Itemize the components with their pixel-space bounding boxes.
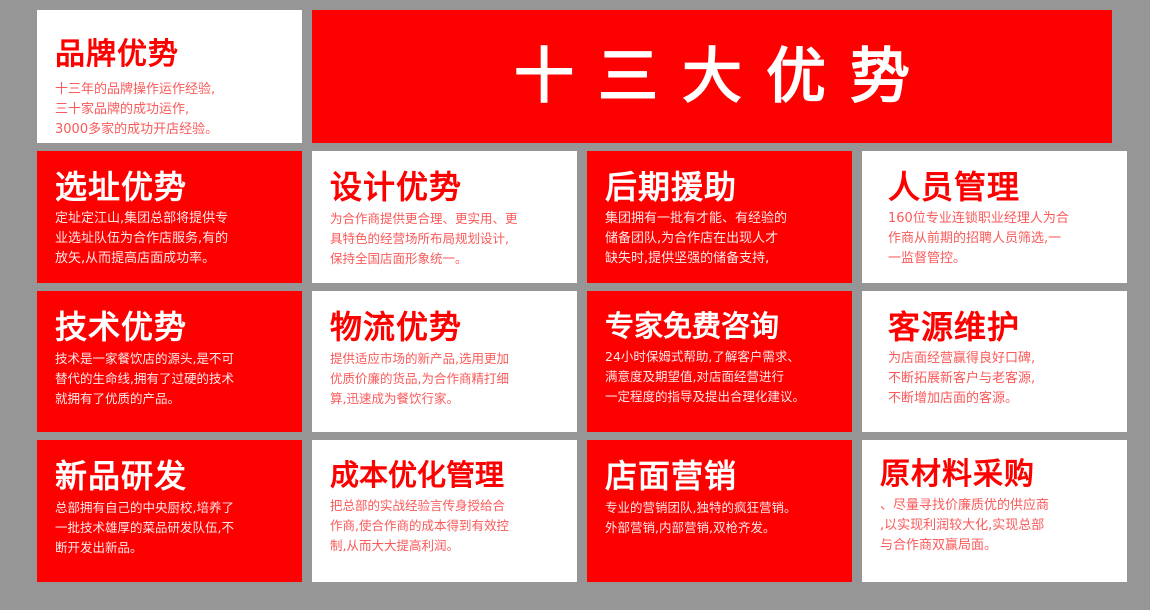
- card-description-line: 专业的营销团队,独特的疯狂营销。: [605, 498, 834, 518]
- card-description-line: 十三年的品牌操作运作经验,: [55, 80, 284, 100]
- card-description-line: 作商,使合作商的成本得到有效控: [330, 516, 559, 536]
- card-description-line: 具特色的经营场所布局规划设计,: [330, 229, 559, 249]
- card-description: 为店面经营赢得良好口碑, 不断拓展新客户与老客源, 不断增加店面的客源。: [888, 349, 1109, 409]
- card-description-line: 提供适应市场的新产品,选用更加: [330, 349, 559, 369]
- card-description-line: 就拥有了优质的产品。: [55, 389, 284, 409]
- card-description-line: 把总部的实战经验言传身授给合: [330, 496, 559, 516]
- card-title: 物流优势: [330, 307, 559, 347]
- card-description: 、尽量寻找价廉质优的供应商 ,以实现利润较大化,实现总部 与合作商双赢局面。: [880, 496, 1109, 556]
- card-title: 后期援助: [605, 167, 834, 207]
- card-new-product-rnd[interactable]: 新品研发 总部拥有自己的中央厨校,培养了 一批技术雄厚的菜品研发队伍,不 断开发…: [37, 440, 302, 582]
- board-row-2: 选址优势 定址定江山,集团总部将提供专 业选址队伍为合作店服务,有的 放矢,从而…: [37, 151, 1112, 283]
- card-title: 品牌优势: [55, 36, 284, 74]
- card-description-line: 为合作商提供更合理、更实用、更: [330, 209, 559, 229]
- card-brand-advantage[interactable]: 品牌优势 十三年的品牌操作运作经验, 三十家品牌的成功运作, 3000多家的成功…: [37, 10, 302, 143]
- card-title: 店面营销: [605, 456, 834, 496]
- card-description-line: 定址定江山,集团总部将提供专: [55, 209, 284, 229]
- card-site-selection-advantage[interactable]: 选址优势 定址定江山,集团总部将提供专 业选址队伍为合作店服务,有的 放矢,从而…: [37, 151, 302, 283]
- card-title: 设计优势: [330, 167, 559, 207]
- card-description-line: 不断拓展新客户与老客源,: [888, 369, 1109, 389]
- card-title: 客源维护: [888, 307, 1109, 347]
- card-description: 十三年的品牌操作运作经验, 三十家品牌的成功运作, 3000多家的成功开店经验。: [55, 80, 284, 140]
- card-description-line: 缺失时,提供坚强的储备支持,: [605, 249, 834, 269]
- card-title: 原材料采购: [880, 456, 1109, 494]
- card-description: 提供适应市场的新产品,选用更加 优质价廉的货品,为合作商精打细 算,迅速成为餐饮…: [330, 349, 559, 409]
- card-description-line: 三十家品牌的成功运作,: [55, 100, 284, 120]
- card-description-line: 3000多家的成功开店经验。: [55, 120, 284, 140]
- card-description-line: 与合作商双赢局面。: [880, 536, 1109, 556]
- card-description-line: 断开发出新品。: [55, 538, 284, 558]
- card-description-line: 不断增加店面的客源。: [888, 389, 1109, 409]
- card-description: 把总部的实战经验言传身授给合 作商,使合作商的成本得到有效控 制,从而大大提高利…: [330, 496, 559, 556]
- card-description-line: 外部营销,内部营销,双枪齐发。: [605, 518, 834, 538]
- card-expert-free-consulting[interactable]: 专家免费咨询 24小时保姆式帮助,了解客户需求、 满意度及期望值,对店面经营进行…: [587, 291, 852, 433]
- card-description-line: 技术是一家餐饮店的源头,是不可: [55, 349, 284, 369]
- card-description: 24小时保姆式帮助,了解客户需求、 满意度及期望值,对店面经营进行 一定程度的指…: [605, 347, 834, 407]
- card-description: 定址定江山,集团总部将提供专 业选址队伍为合作店服务,有的 放矢,从而提高店面成…: [55, 209, 284, 269]
- card-description: 为合作商提供更合理、更实用、更 具特色的经营场所布局规划设计, 保持全国店面形象…: [330, 209, 559, 269]
- card-title: 人员管理: [888, 167, 1109, 207]
- card-description: 160位专业连锁职业经理人为合 作商从前期的招聘人员筛选,一 一监督管控。: [888, 209, 1109, 269]
- card-technology-advantage[interactable]: 技术优势 技术是一家餐饮店的源头,是不可 替代的生命线,拥有了过硬的技术 就拥有…: [37, 291, 302, 433]
- card-description-line: 一监督管控。: [888, 249, 1109, 269]
- card-cost-optimization-management[interactable]: 成本优化管理 把总部的实战经验言传身授给合 作商,使合作商的成本得到有效控 制,…: [312, 440, 577, 582]
- card-title: 选址优势: [55, 167, 284, 207]
- card-description-line: 放矢,从而提高店面成功率。: [55, 249, 284, 269]
- card-description-line: 为店面经营赢得良好口碑,: [888, 349, 1109, 369]
- card-logistics-advantage[interactable]: 物流优势 提供适应市场的新产品,选用更加 优质价廉的货品,为合作商精打细 算,迅…: [312, 291, 577, 433]
- main-banner: 十三大优势: [312, 10, 1112, 143]
- board-row-3: 技术优势 技术是一家餐饮店的源头,是不可 替代的生命线,拥有了过硬的技术 就拥有…: [37, 291, 1112, 433]
- card-description-line: 160位专业连锁职业经理人为合: [888, 209, 1109, 229]
- card-description-line: 满意度及期望值,对店面经营进行: [605, 367, 834, 387]
- card-title: 技术优势: [55, 307, 284, 347]
- card-description-line: 总部拥有自己的中央厨校,培养了: [55, 498, 284, 518]
- card-description-line: 优质价廉的货品,为合作商精打细: [330, 369, 559, 389]
- card-description: 总部拥有自己的中央厨校,培养了 一批技术雄厚的菜品研发队伍,不 断开发出新品。: [55, 498, 284, 558]
- card-later-stage-support[interactable]: 后期援助 集团拥有一批有才能、有经验的 储备团队,为合作店在出现人才 缺失时,提…: [587, 151, 852, 283]
- card-description-line: 储备团队,为合作店在出现人才: [605, 229, 834, 249]
- card-store-marketing[interactable]: 店面营销 专业的营销团队,独特的疯狂营销。 外部营销,内部营销,双枪齐发。: [587, 440, 852, 582]
- card-description-line: 集团拥有一批有才能、有经验的: [605, 209, 834, 229]
- card-description-line: 保持全国店面形象统一。: [330, 249, 559, 269]
- card-description: 集团拥有一批有才能、有经验的 储备团队,为合作店在出现人才 缺失时,提供坚强的储…: [605, 209, 834, 269]
- advantages-board: 品牌优势 十三年的品牌操作运作经验, 三十家品牌的成功运作, 3000多家的成功…: [0, 0, 1150, 610]
- card-description-line: 、尽量寻找价廉质优的供应商: [880, 496, 1109, 516]
- card-description-line: 算,迅速成为餐饮行家。: [330, 389, 559, 409]
- board-row-4: 新品研发 总部拥有自己的中央厨校,培养了 一批技术雄厚的菜品研发队伍,不 断开发…: [37, 440, 1112, 582]
- card-description-line: 制,从而大大提高利润。: [330, 536, 559, 556]
- card-description-line: 一定程度的指导及提出合理化建议。: [605, 387, 834, 407]
- card-customer-maintenance[interactable]: 客源维护 为店面经营赢得良好口碑, 不断拓展新客户与老客源, 不断增加店面的客源…: [862, 291, 1127, 433]
- card-description-line: 作商从前期的招聘人员筛选,一: [888, 229, 1109, 249]
- card-description-line: 替代的生命线,拥有了过硬的技术: [55, 369, 284, 389]
- card-title: 专家免费咨询: [605, 307, 834, 345]
- card-description-line: ,以实现利润较大化,实现总部: [880, 516, 1109, 536]
- card-description: 技术是一家餐饮店的源头,是不可 替代的生命线,拥有了过硬的技术 就拥有了优质的产…: [55, 349, 284, 409]
- card-description-line: 24小时保姆式帮助,了解客户需求、: [605, 347, 834, 367]
- card-raw-material-procurement[interactable]: 原材料采购 、尽量寻找价廉质优的供应商 ,以实现利润较大化,实现总部 与合作商双…: [862, 440, 1127, 582]
- card-staff-management[interactable]: 人员管理 160位专业连锁职业经理人为合 作商从前期的招聘人员筛选,一 一监督管…: [862, 151, 1127, 283]
- card-description-line: 业选址队伍为合作店服务,有的: [55, 229, 284, 249]
- board-row-1: 品牌优势 十三年的品牌操作运作经验, 三十家品牌的成功运作, 3000多家的成功…: [37, 10, 1112, 143]
- card-title: 成本优化管理: [330, 456, 559, 494]
- card-title: 新品研发: [55, 456, 284, 496]
- card-design-advantage[interactable]: 设计优势 为合作商提供更合理、更实用、更 具特色的经营场所布局规划设计, 保持全…: [312, 151, 577, 283]
- card-description: 专业的营销团队,独特的疯狂营销。 外部营销,内部营销,双枪齐发。: [605, 498, 834, 538]
- card-description-line: 一批技术雄厚的菜品研发队伍,不: [55, 518, 284, 538]
- main-banner-title: 十三大优势: [490, 47, 934, 107]
